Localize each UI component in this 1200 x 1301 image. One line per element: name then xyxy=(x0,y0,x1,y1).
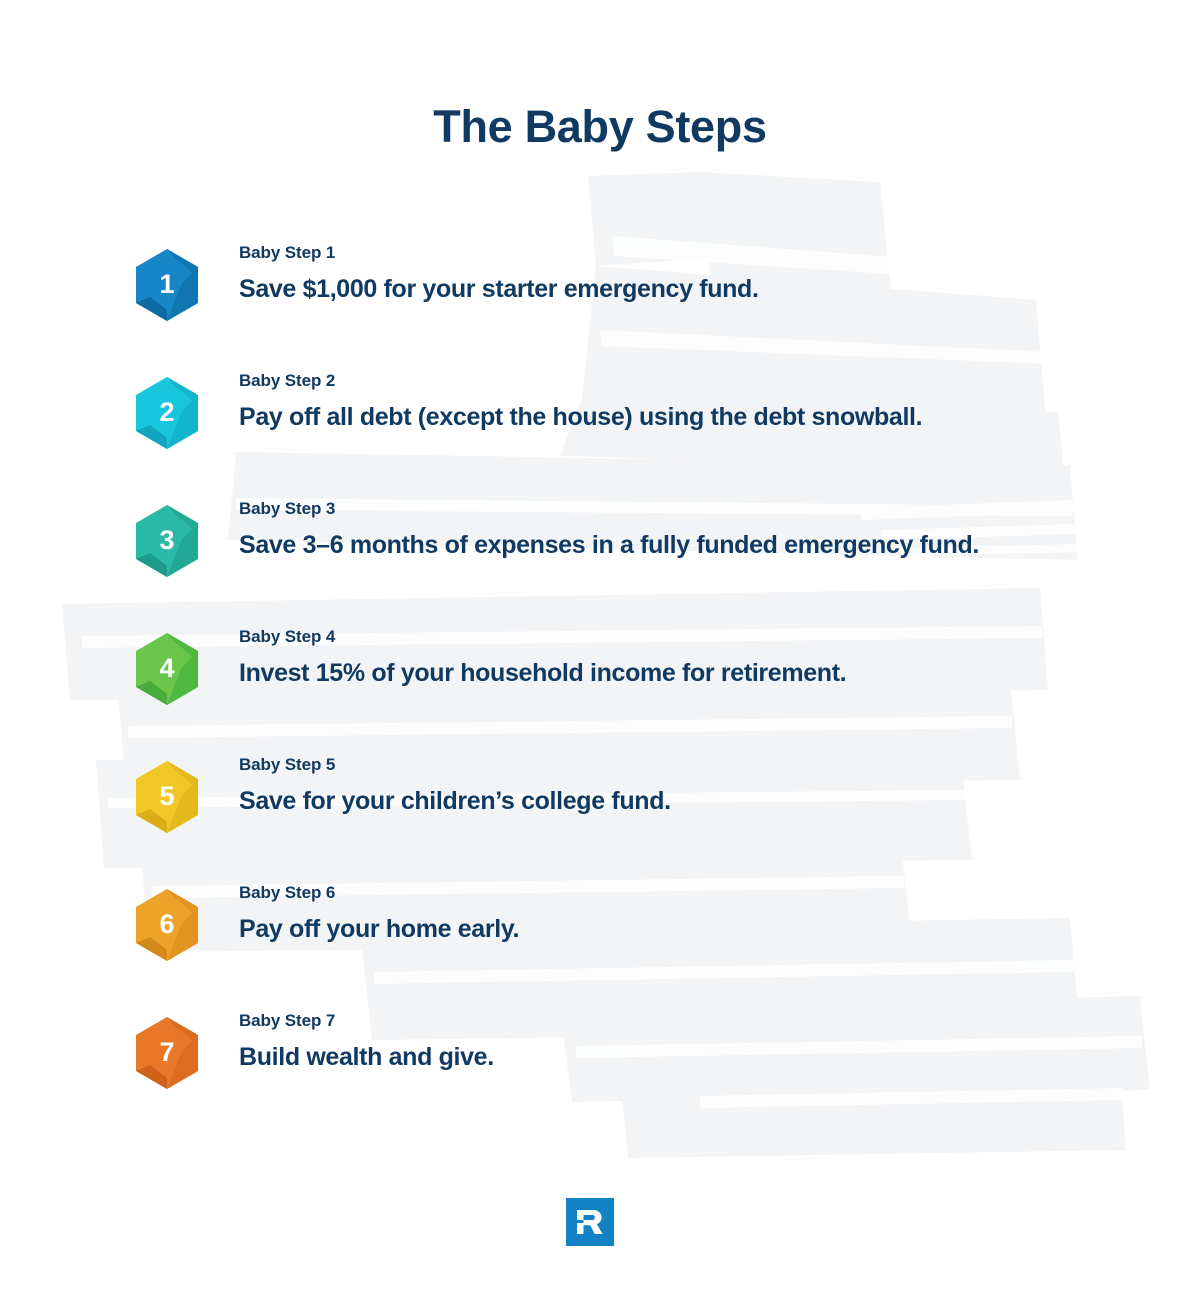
step-text-block: Baby Step 1 Save $1,000 for your starter… xyxy=(239,243,1179,306)
step-label: Baby Step 5 xyxy=(239,755,1179,775)
infographic-page: The Baby Steps 1 Baby Step 1 Save $1,000… xyxy=(0,0,1200,1301)
step-hexagon-3[interactable]: 3 xyxy=(136,505,198,577)
step-number: 6 xyxy=(136,889,198,961)
baby-step-row-1: 1 Baby Step 1 Save $1,000 for your start… xyxy=(0,243,1200,371)
step-text-block: Baby Step 3 Save 3–6 months of expenses … xyxy=(239,499,1179,562)
step-text-block: Baby Step 7 Build wealth and give. xyxy=(239,1011,1179,1074)
step-label: Baby Step 3 xyxy=(239,499,1179,519)
step-description: Pay off all debt (except the house) usin… xyxy=(239,402,1179,433)
step-description: Invest 15% of your household income for … xyxy=(239,658,1179,689)
baby-step-row-3: 3 Baby Step 3 Save 3–6 months of expense… xyxy=(0,499,1200,627)
step-label: Baby Step 6 xyxy=(239,883,1179,903)
step-hexagon-2[interactable]: 2 xyxy=(136,377,198,449)
step-description: Save $1,000 for your starter emergency f… xyxy=(239,274,1179,305)
ramsey-r-logo-icon xyxy=(566,1198,614,1246)
baby-step-row-4: 4 Baby Step 4 Invest 15% of your househo… xyxy=(0,627,1200,755)
step-description: Save 3–6 months of expenses in a fully f… xyxy=(239,530,1179,561)
step-number: 2 xyxy=(136,377,198,449)
page-title: The Baby Steps xyxy=(0,102,1200,152)
baby-step-row-7: 7 Baby Step 7 Build wealth and give. xyxy=(0,1011,1200,1139)
step-label: Baby Step 1 xyxy=(239,243,1179,263)
baby-step-row-2: 2 Baby Step 2 Pay off all debt (except t… xyxy=(0,371,1200,499)
step-number: 1 xyxy=(136,249,198,321)
step-label: Baby Step 4 xyxy=(239,627,1179,647)
step-hexagon-7[interactable]: 7 xyxy=(136,1017,198,1089)
step-label: Baby Step 2 xyxy=(239,371,1179,391)
step-number: 4 xyxy=(136,633,198,705)
step-description: Build wealth and give. xyxy=(239,1042,1179,1073)
step-text-block: Baby Step 2 Pay off all debt (except the… xyxy=(239,371,1179,434)
step-number: 3 xyxy=(136,505,198,577)
step-hexagon-1[interactable]: 1 xyxy=(136,249,198,321)
baby-step-row-6: 6 Baby Step 6 Pay off your home early. xyxy=(0,883,1200,1011)
baby-steps-list: 1 Baby Step 1 Save $1,000 for your start… xyxy=(0,243,1200,1139)
step-text-block: Baby Step 4 Invest 15% of your household… xyxy=(239,627,1179,690)
step-description: Pay off your home early. xyxy=(239,914,1179,945)
step-text-block: Baby Step 6 Pay off your home early. xyxy=(239,883,1179,946)
step-number: 7 xyxy=(136,1017,198,1089)
step-label: Baby Step 7 xyxy=(239,1011,1179,1031)
step-number: 5 xyxy=(136,761,198,833)
step-description: Save for your children’s college fund. xyxy=(239,786,1179,817)
step-text-block: Baby Step 5 Save for your children’s col… xyxy=(239,755,1179,818)
baby-step-row-5: 5 Baby Step 5 Save for your children’s c… xyxy=(0,755,1200,883)
ramsey-r-logo[interactable] xyxy=(566,1198,614,1246)
step-hexagon-5[interactable]: 5 xyxy=(136,761,198,833)
step-hexagon-6[interactable]: 6 xyxy=(136,889,198,961)
step-hexagon-4[interactable]: 4 xyxy=(136,633,198,705)
